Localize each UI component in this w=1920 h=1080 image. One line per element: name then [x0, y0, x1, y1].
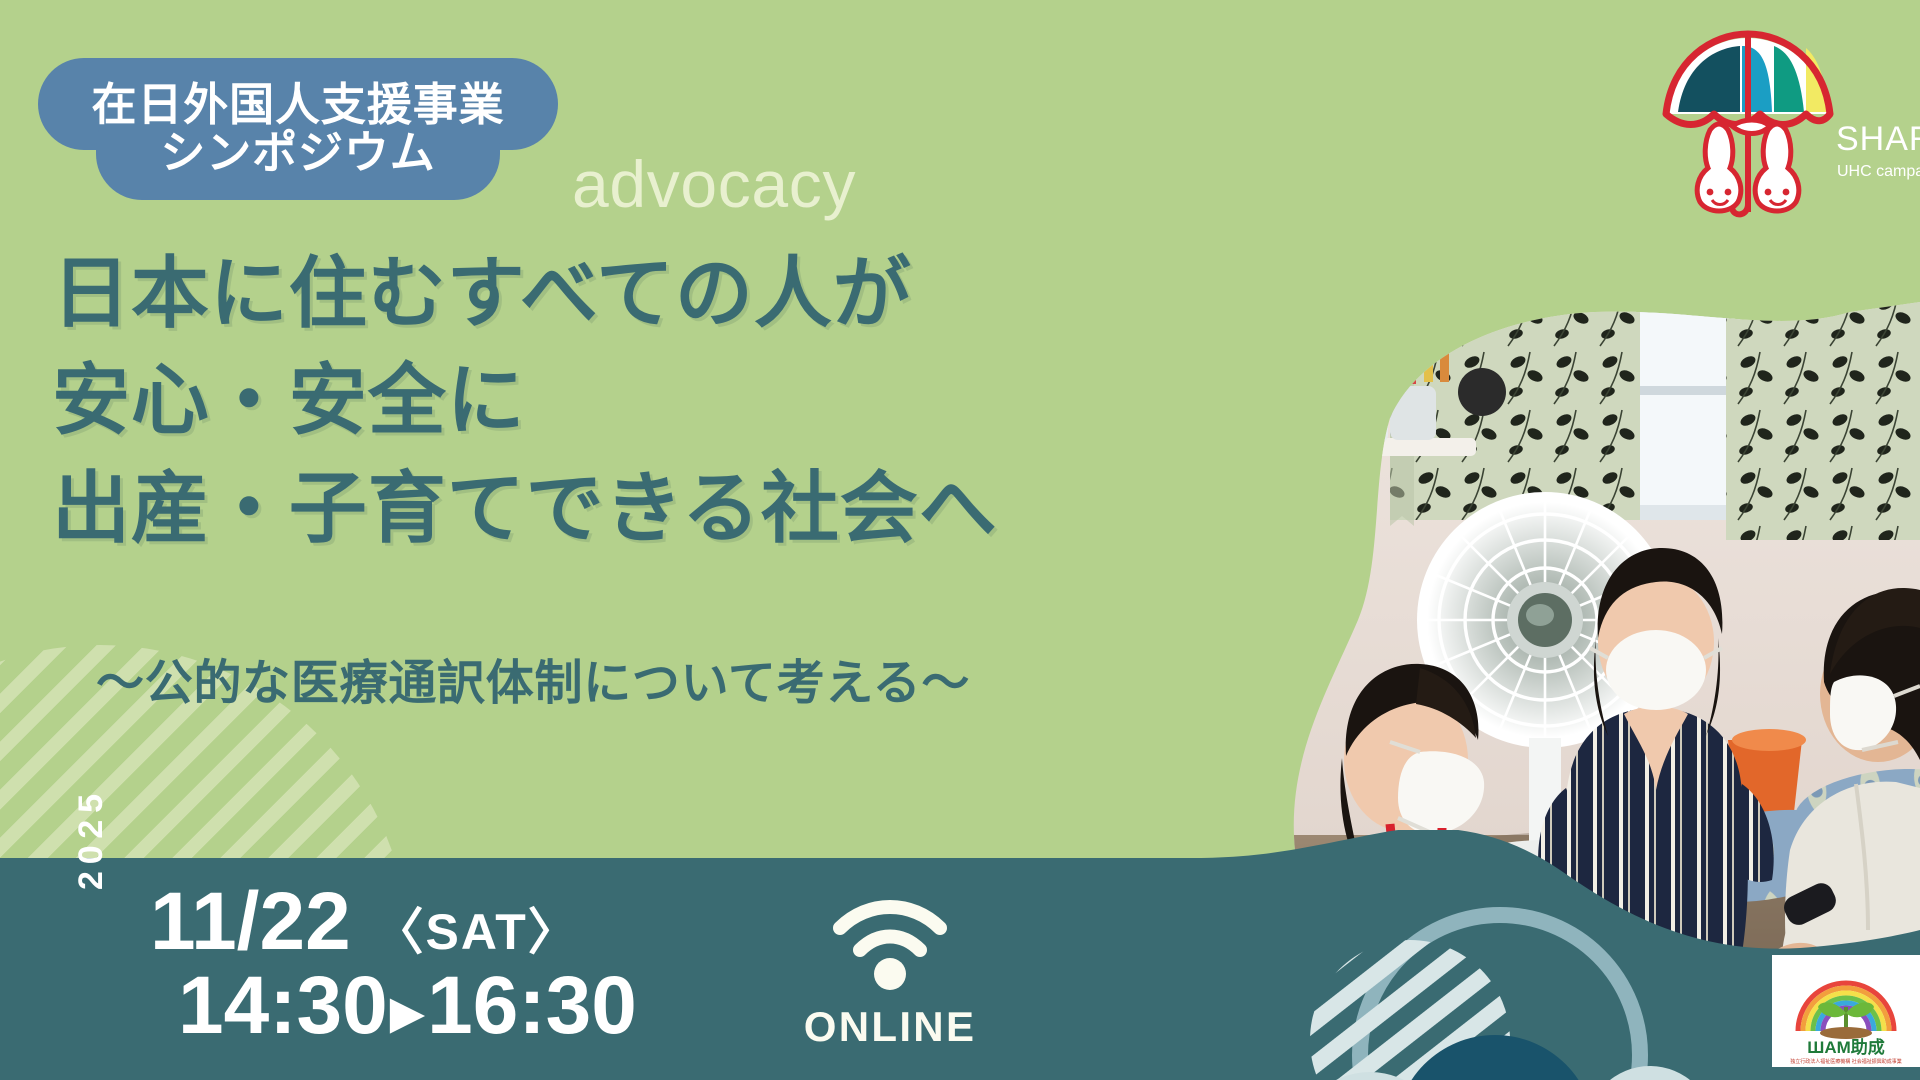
event-year: 2025	[72, 787, 111, 890]
share-wordmark: SHARE	[1836, 120, 1920, 158]
badge-line-1: 在日外国人支援事業	[92, 81, 505, 129]
share-tagline: UHC campaign	[1837, 163, 1920, 180]
badge-line-2: シンポジウム	[160, 129, 435, 177]
online-label: ONLINE	[790, 1003, 990, 1051]
event-poster: 在日外国人支援事業 シンポジウム advocacy 日本に住むすべての人が 安心…	[0, 0, 1920, 1080]
badge-bar-top	[38, 58, 558, 150]
headline-line-3: 出産・子育てできる社会へ	[52, 458, 998, 559]
program-badge: 在日外国人支援事業 シンポジウム	[38, 58, 558, 200]
online-format: ONLINE	[790, 888, 990, 1051]
event-time-end: 16:30	[427, 960, 637, 1051]
share-uhc-logo: SHARE UHC campaign	[1648, 22, 1920, 222]
page-subtitle: 〜公的な医療通訳体制について考える〜	[96, 643, 970, 713]
event-date: 11/22	[150, 876, 351, 967]
wam-wordmark: ШAM助成	[1807, 1037, 1885, 1057]
headline-line-1: 日本に住むすべての人が	[52, 243, 998, 344]
advocacy-eyebrow: advocacy	[572, 146, 856, 222]
badge-bar-bottom	[96, 100, 500, 200]
headline-line-2: 安心・安全に	[52, 350, 998, 451]
time-range-arrow-icon: ▶	[388, 986, 427, 1038]
wam-grant-logo: ШAM助成 独立行政法人福祉医療機構 社会福祉振興助成事業	[1772, 955, 1920, 1067]
event-datetime: 11/22 〈SAT〉 14:30▶16:30	[140, 880, 637, 1047]
event-photo	[1090, 290, 1920, 1030]
event-weekday: 〈SAT〉	[373, 904, 579, 960]
event-time-start: 14:30	[178, 960, 388, 1051]
wifi-icon	[820, 888, 960, 992]
wam-caption: 独立行政法人福祉医療機構 社会福祉振興助成事業	[1790, 1058, 1901, 1065]
page-title: 日本に住むすべての人が 安心・安全に 出産・子育てできる社会へ	[52, 243, 998, 565]
